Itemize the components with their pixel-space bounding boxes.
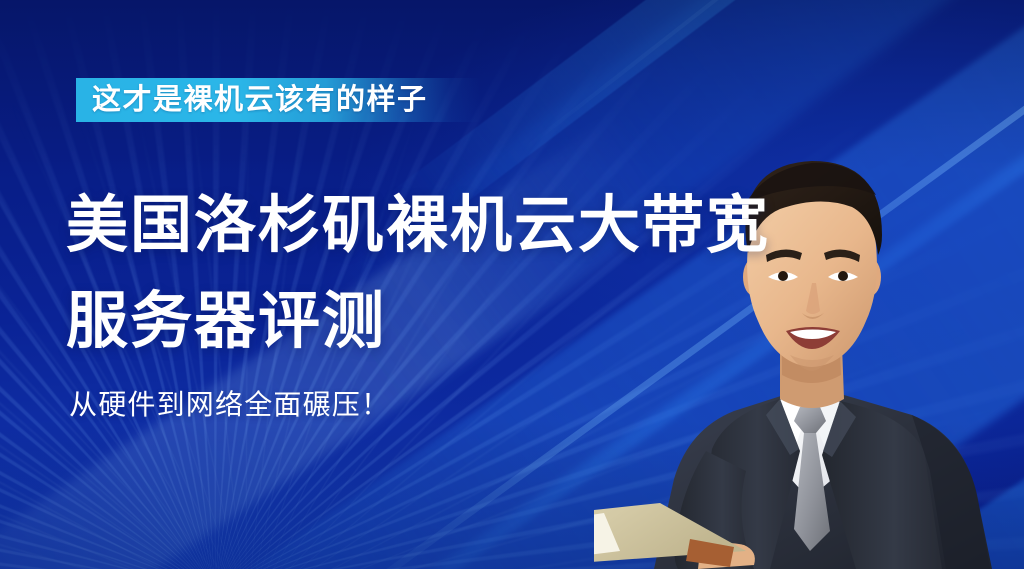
headline: 美国洛杉矶裸机云大带宽 服务器评测: [66, 178, 770, 370]
tagline-pill: 这才是裸机云该有的样子: [76, 78, 480, 122]
tagline-text: 这才是裸机云该有的样子: [92, 86, 428, 115]
banner-content: 这才是裸机云该有的样子 美国洛杉矶裸机云大带宽 服务器评测 从硬件到网络全面碾压…: [0, 0, 1024, 569]
subtitle-text: 从硬件到网络全面碾压！: [69, 388, 390, 422]
headline-line-2: 服务器评测: [66, 274, 770, 370]
headline-line-1: 美国洛杉矶裸机云大带宽: [66, 178, 770, 274]
promo-banner: 这才是裸机云该有的样子 美国洛杉矶裸机云大带宽 服务器评测 从硬件到网络全面碾压…: [0, 0, 1024, 569]
